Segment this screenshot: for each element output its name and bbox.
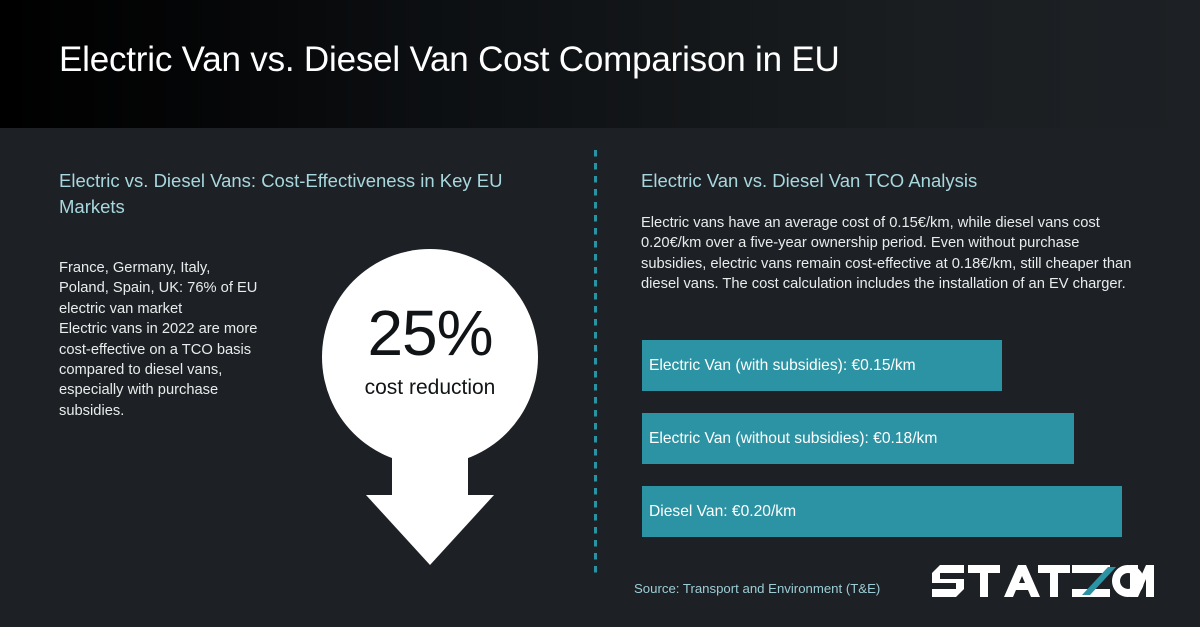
left-paragraph-2: Electric vans in 2022 are more cost-effe… — [59, 319, 259, 421]
tco-bar-chart: Electric Van (with subsidies): €0.15/km … — [642, 340, 1122, 559]
left-panel: Electric vs. Diesel Vans: Cost-Effective… — [59, 168, 529, 220]
infographic-root: Electric Van vs. Diesel Van Cost Compari… — [0, 0, 1200, 627]
right-panel: Electric Van vs. Diesel Van TCO Analysis — [641, 168, 1141, 194]
callout-caption: cost reduction — [322, 375, 538, 401]
cost-reduction-callout: 25% cost reduction — [322, 249, 538, 565]
table-row: Electric Van (with subsidies): €0.15/km — [642, 340, 1002, 391]
source-attribution: Source: Transport and Environment (T&E) — [634, 581, 880, 596]
table-row: Diesel Van: €0.20/km — [642, 486, 1122, 537]
left-panel-body: France, Germany, Italy, Poland, Spain, U… — [59, 258, 259, 421]
callout-value: 25% — [322, 301, 538, 365]
statzon-logo — [932, 559, 1158, 601]
right-panel-body: Electric vans have an average cost of 0.… — [641, 213, 1141, 295]
header-banner: Electric Van vs. Diesel Van Cost Compari… — [0, 0, 1200, 128]
bar-label: Electric Van (with subsidies): €0.15/km — [642, 357, 916, 375]
bar-label: Diesel Van: €0.20/km — [642, 503, 796, 521]
right-panel-heading: Electric Van vs. Diesel Van TCO Analysis — [641, 168, 1141, 194]
left-paragraph-1: France, Germany, Italy, Poland, Spain, U… — [59, 258, 259, 319]
page-title: Electric Van vs. Diesel Van Cost Compari… — [59, 40, 840, 80]
table-row: Electric Van (without subsidies): €0.18/… — [642, 413, 1074, 464]
vertical-dashed-divider — [594, 150, 597, 578]
bar-label: Electric Van (without subsidies): €0.18/… — [642, 430, 937, 448]
brand-logo-icon — [932, 559, 1158, 601]
left-panel-heading: Electric vs. Diesel Vans: Cost-Effective… — [59, 168, 529, 220]
